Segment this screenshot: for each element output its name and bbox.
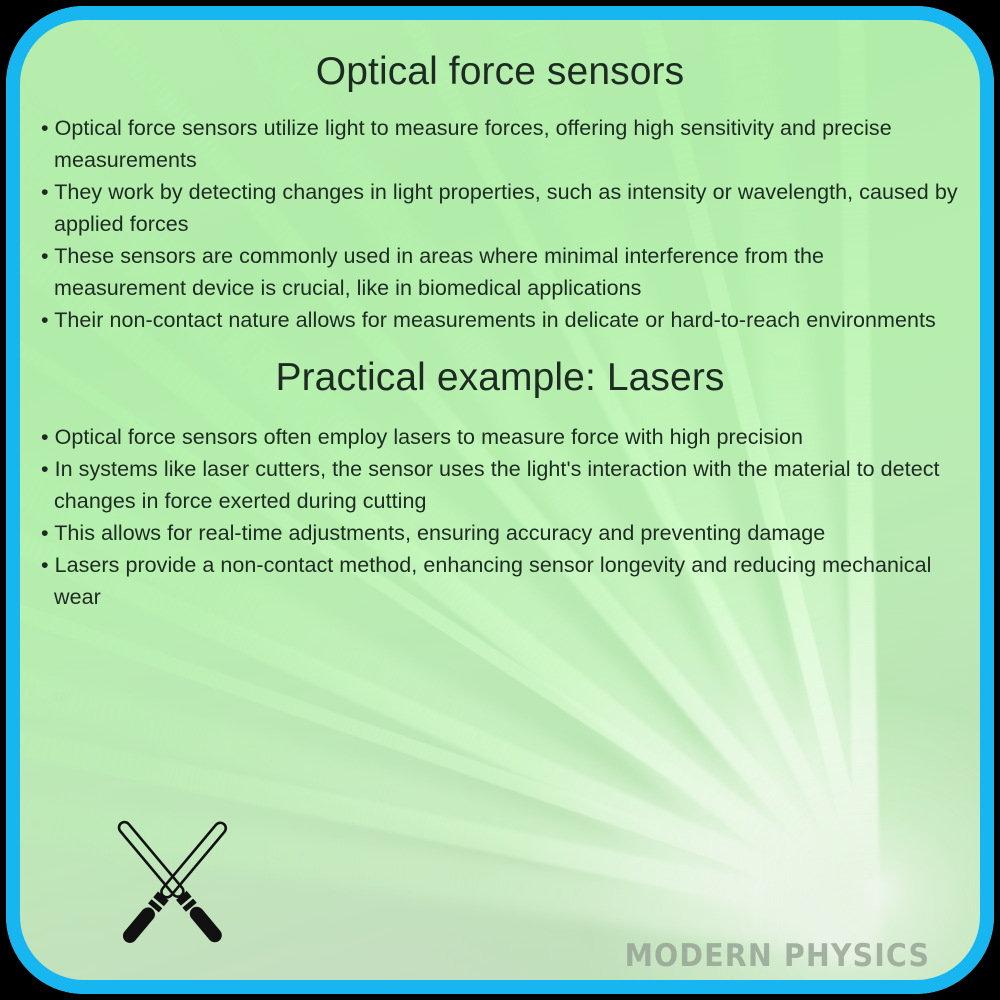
- slide-frame: Optical force sensors • Optical force se…: [0, 0, 1000, 1000]
- slide-border: [6, 6, 994, 994]
